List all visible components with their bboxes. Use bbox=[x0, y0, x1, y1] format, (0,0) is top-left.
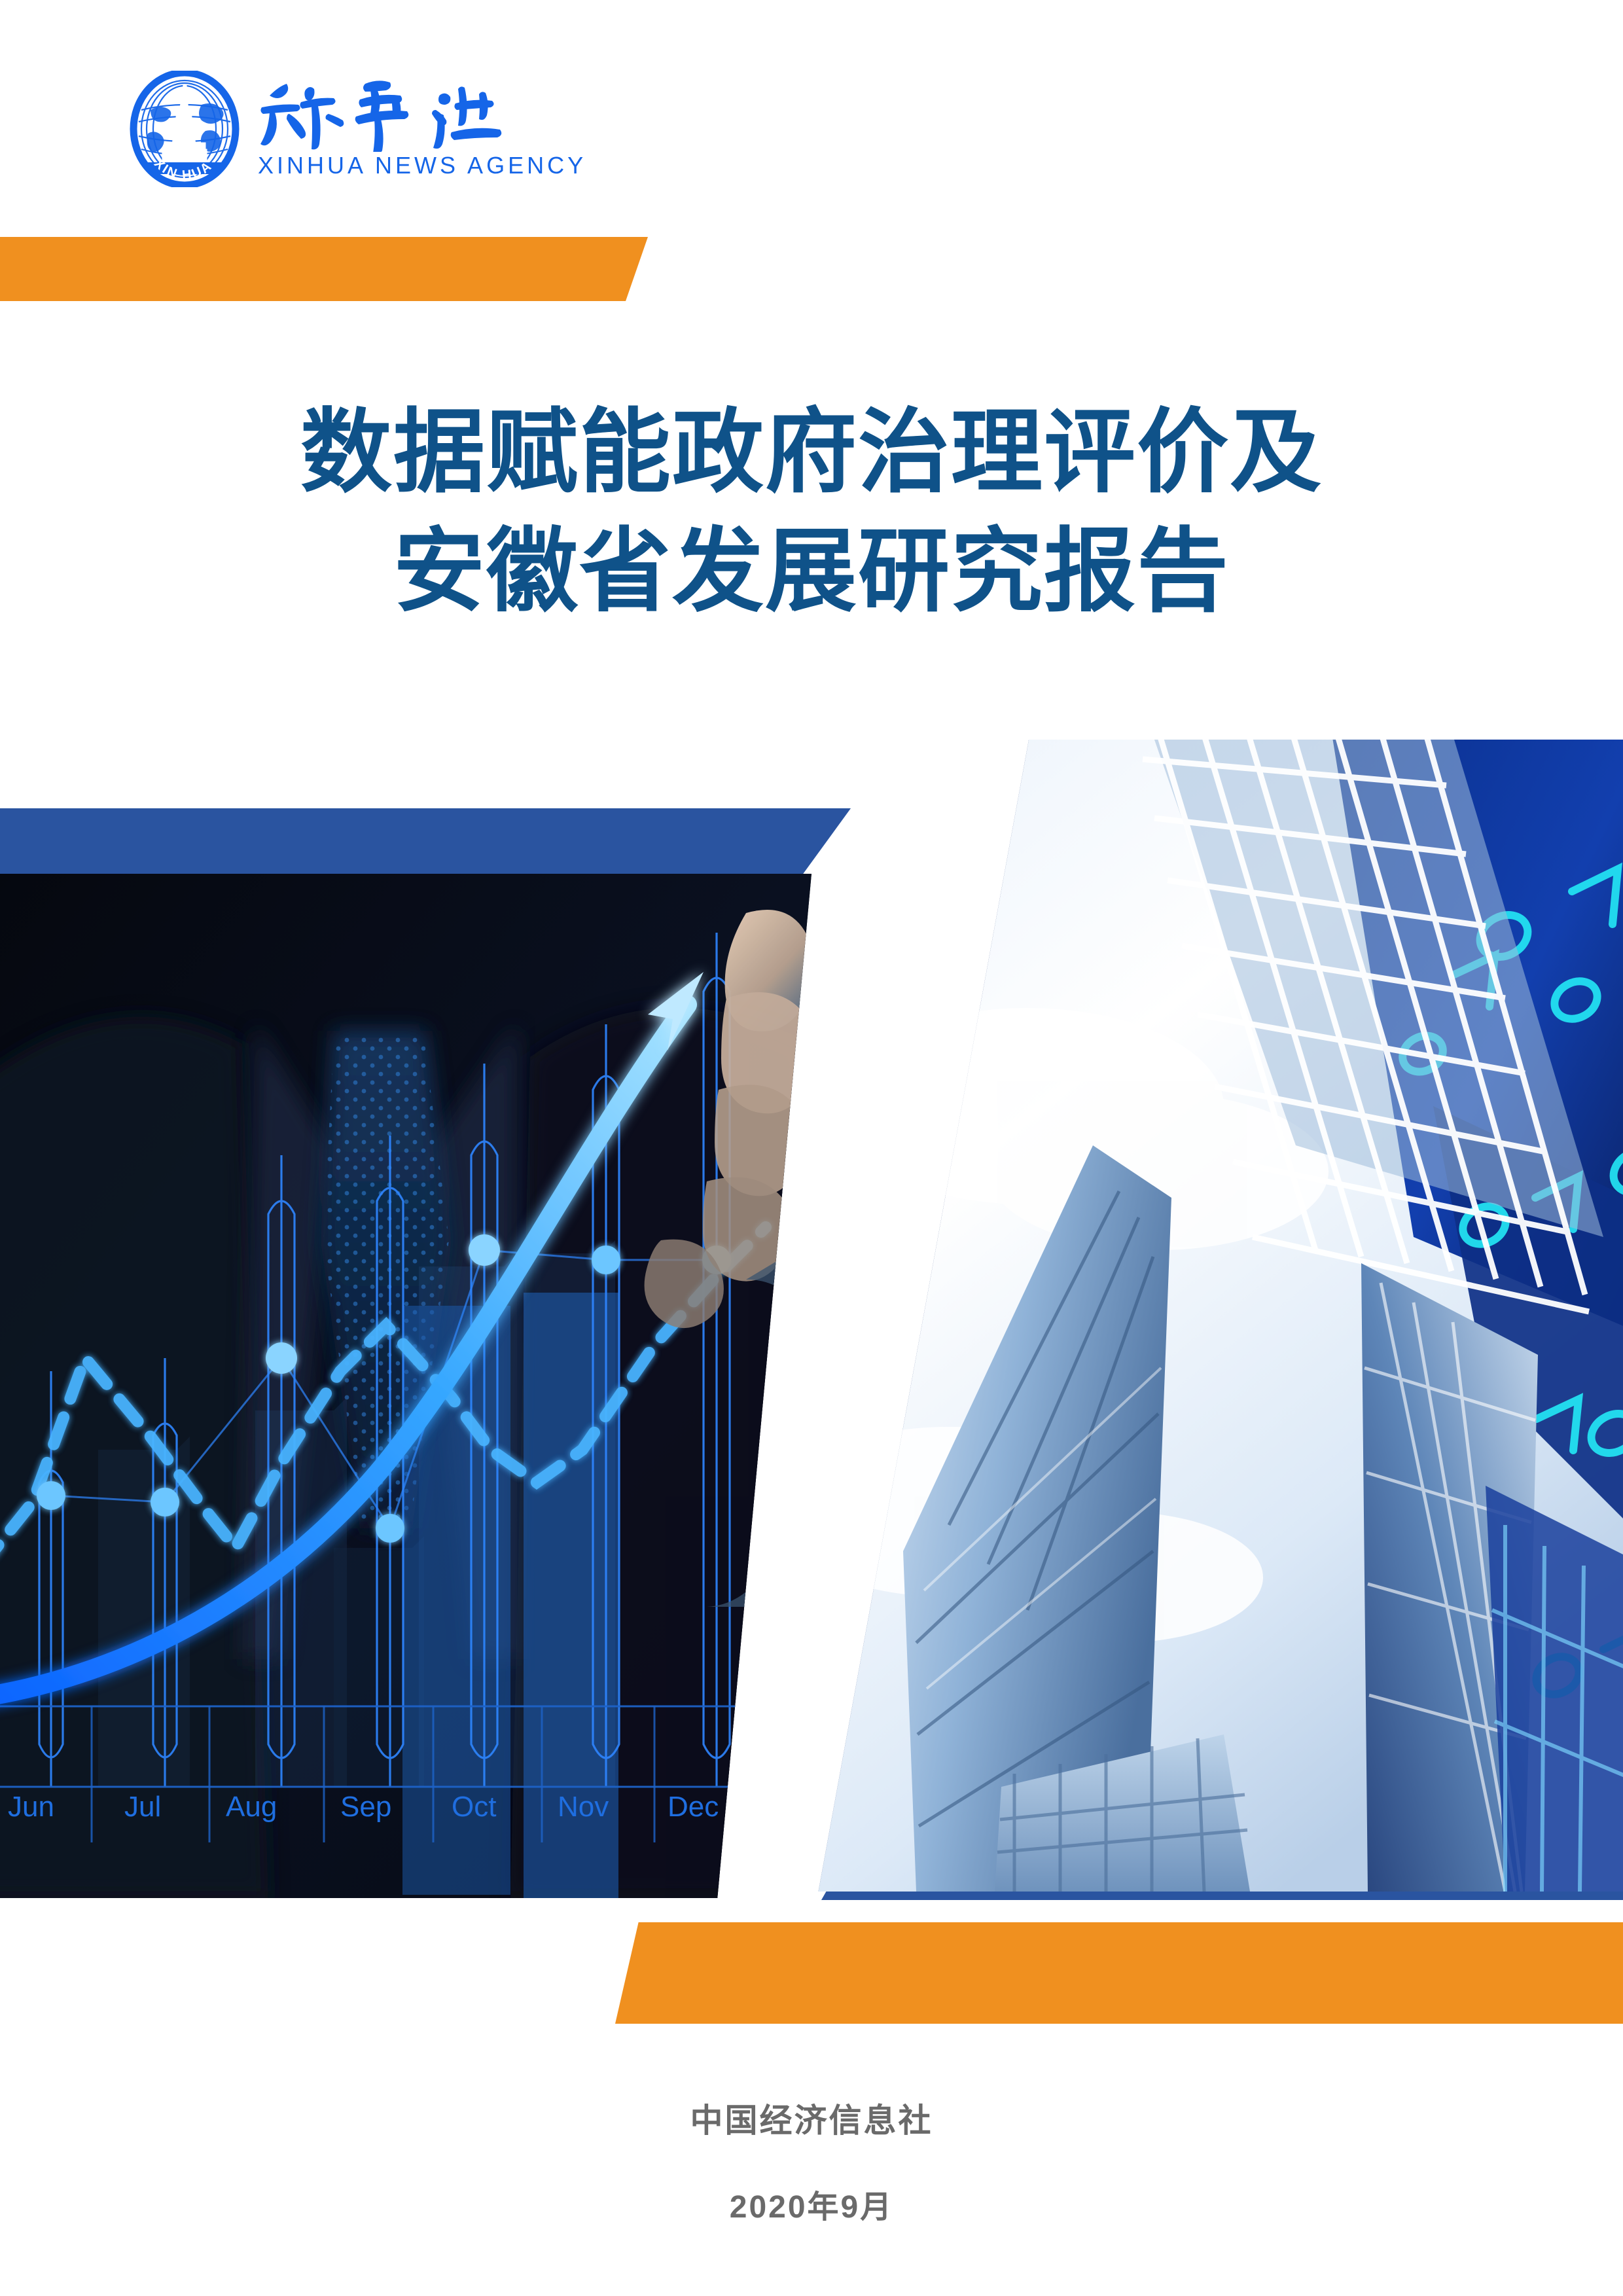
page-title-line1: 数据赋能政府治理评价及 bbox=[0, 393, 1623, 512]
skyscrapers-binary-photo bbox=[753, 740, 1623, 1892]
xinhua-logo: XIN HUA bbox=[128, 71, 547, 188]
xinhua-emblem-icon: XIN HUA bbox=[128, 71, 241, 187]
svg-text:Oct: Oct bbox=[452, 1791, 496, 1823]
page-title: 数据赋能政府治理评价及 安徽省发展研究报告 bbox=[0, 393, 1623, 631]
svg-text:Sep: Sep bbox=[340, 1791, 391, 1823]
publisher-name: 中国经济信息社 bbox=[0, 2094, 1623, 2142]
xinhua-wordmark-en: XINHUA NEWS AGENCY bbox=[258, 152, 586, 179]
cover-footer: 中国经济信息社 2020年9月 bbox=[0, 2094, 1623, 2227]
svg-text:Nov: Nov bbox=[558, 1791, 609, 1823]
xinhua-wordmark-cn-icon bbox=[255, 73, 530, 152]
hero-imagery: Jun Jul Aug Sep Oct Nov Dec bbox=[0, 694, 1623, 1924]
publication-date: 2020年9月 bbox=[0, 2181, 1623, 2227]
svg-text:Dec: Dec bbox=[668, 1791, 719, 1823]
page-title-line2: 安徽省发展研究报告 bbox=[0, 512, 1623, 631]
business-growth-chart-photo: Jun Jul Aug Sep Oct Nov Dec bbox=[0, 874, 811, 1898]
orange-accent-bar-bottom bbox=[615, 1922, 1623, 2024]
xinhua-wordmark: XINHUA NEWS AGENCY bbox=[255, 71, 530, 187]
svg-text:Jul: Jul bbox=[124, 1791, 161, 1823]
report-cover-page: XIN HUA bbox=[0, 0, 1623, 2296]
blue-accent-band-left bbox=[0, 808, 851, 879]
svg-text:Aug: Aug bbox=[226, 1791, 277, 1823]
svg-text:Jun: Jun bbox=[8, 1791, 54, 1823]
orange-accent-bar-top bbox=[0, 237, 648, 301]
